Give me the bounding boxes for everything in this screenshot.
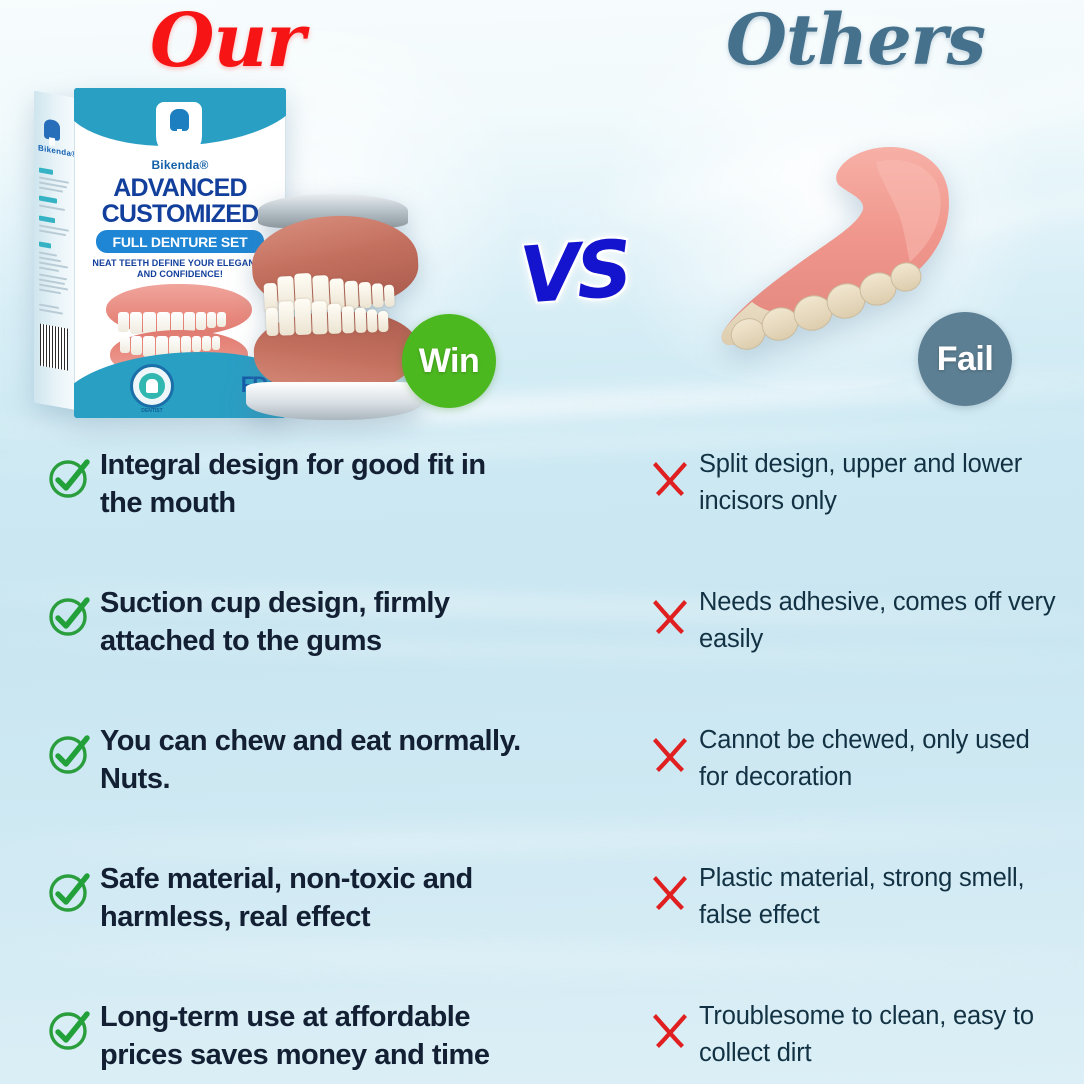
- list-item-label: Needs adhesive, comes off very easily: [699, 584, 1059, 658]
- seal-label-top: DENTIST: [124, 408, 180, 414]
- check-icon: [46, 731, 92, 777]
- list-item: Long-term use at affordable prices saves…: [46, 998, 566, 1084]
- cross-icon: [648, 731, 692, 775]
- list-item: Cannot be chewed, only used for decorati…: [648, 722, 1068, 860]
- list-item: Suction cup design, firmly attached to t…: [46, 584, 566, 722]
- fail-badge: Fail: [918, 312, 1012, 406]
- cross-icon: [648, 455, 692, 499]
- product-box-side-panel: Bikenda®: [34, 91, 76, 410]
- list-item: Troublesome to clean, easy to collect di…: [648, 998, 1068, 1084]
- list-item: Split design, upper and lower incisors o…: [648, 446, 1068, 584]
- win-badge: Win: [402, 314, 496, 408]
- list-item-label: Safe material, non-toxic and harmless, r…: [100, 860, 530, 936]
- cross-icon: [648, 869, 692, 913]
- check-icon: [46, 455, 92, 501]
- others-feature-list: Split design, upper and lower incisors o…: [648, 446, 1068, 1084]
- list-item: Needs adhesive, comes off very easily: [648, 584, 1068, 722]
- product-brand: Bikenda®: [144, 158, 216, 172]
- cross-icon: [648, 593, 692, 637]
- list-item-label: Troublesome to clean, easy to collect di…: [699, 998, 1059, 1072]
- ours-feature-list: Integral design for good fit in the mout…: [46, 446, 566, 1084]
- dentist-approved-seal: [130, 364, 174, 408]
- list-item: Safe material, non-toxic and harmless, r…: [46, 860, 566, 998]
- list-item-label: Integral design for good fit in the mout…: [100, 446, 530, 522]
- cross-icon: [648, 1007, 692, 1051]
- list-item-label: You can chew and eat normally. Nuts.: [100, 722, 530, 798]
- header-ours: Our: [150, 0, 304, 84]
- header-others: Others: [726, 0, 985, 81]
- list-item: You can chew and eat normally. Nuts.: [46, 722, 566, 860]
- check-icon: [46, 869, 92, 915]
- side-brand-label: Bikenda®: [38, 143, 76, 159]
- list-item-label: Cannot be chewed, only used for decorati…: [699, 722, 1059, 796]
- list-item-label: Suction cup design, firmly attached to t…: [100, 584, 530, 660]
- list-item: Integral design for good fit in the mout…: [46, 446, 566, 584]
- brand-shield-icon: [156, 102, 202, 158]
- tooth-logo-icon: [44, 118, 60, 141]
- check-icon: [46, 1007, 92, 1053]
- check-icon: [46, 593, 92, 639]
- barcode: [40, 324, 68, 371]
- list-item-label: Split design, upper and lower incisors o…: [699, 446, 1059, 520]
- our-denture-model-image: [238, 192, 428, 420]
- list-item-label: Plastic material, strong smell, false ef…: [699, 860, 1059, 934]
- infographic-stage: Our Others Bikenda®: [0, 0, 1084, 1084]
- list-item-label: Long-term use at affordable prices saves…: [100, 998, 530, 1074]
- list-item: Plastic material, strong smell, false ef…: [648, 860, 1068, 998]
- vs-label: VS: [517, 224, 632, 321]
